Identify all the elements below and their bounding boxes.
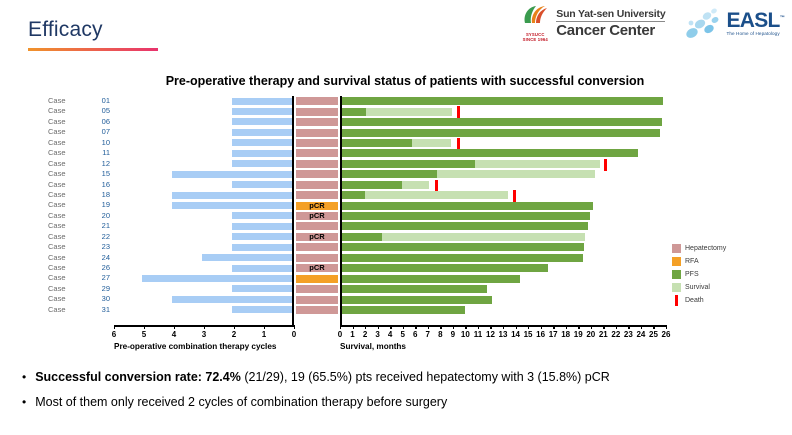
pfs-bar — [342, 264, 548, 272]
easl-trademark: ™ — [780, 15, 784, 21]
legend-label: PFS — [685, 271, 699, 278]
case-word: Case — [48, 127, 66, 137]
case-word: Case — [48, 200, 66, 210]
right-axis-tick-label: 9 — [451, 330, 455, 339]
sysucc-line2: Cancer Center — [556, 23, 665, 38]
cycles-row — [114, 200, 292, 210]
left-axis-tick-label: 6 — [112, 330, 116, 339]
cycles-row — [114, 242, 292, 252]
logo-group: SYSUCC SINCE 1964 Sun Yat-sen University… — [520, 5, 784, 43]
right-axis-tick — [415, 325, 416, 329]
bullet-emphasis: Successful conversion rate: 72.4% — [35, 370, 241, 384]
right-axis-tick — [390, 325, 391, 329]
legend-item: Survival — [672, 281, 726, 294]
hepatectomy-bar — [296, 160, 338, 168]
right-axis-tick-label: 17 — [549, 330, 558, 339]
survival-row — [342, 200, 666, 210]
left-axis-tick-label: 1 — [262, 330, 266, 339]
survival-row — [342, 180, 666, 190]
pfs-bar — [342, 306, 465, 314]
surgery-row — [296, 169, 338, 179]
therapy-cycles-bar — [232, 129, 292, 136]
hepatectomy-bar — [296, 191, 338, 199]
right-axis-tick-label: 16 — [536, 330, 545, 339]
case-number: 06 — [102, 117, 110, 127]
case-label-row: Case30 — [48, 294, 110, 304]
hepatectomy-bar — [296, 97, 338, 105]
pcr-badge: pCR — [296, 233, 338, 241]
therapy-cycles-bar — [232, 118, 292, 125]
right-axis-tick — [378, 325, 379, 329]
right-axis-tick-label: 6 — [413, 330, 417, 339]
therapy-cycles-bar — [232, 306, 292, 313]
left-axis-tick-label: 4 — [172, 330, 176, 339]
pfs-bar — [342, 275, 520, 283]
hepatectomy-bar — [296, 118, 338, 126]
surgery-row — [296, 138, 338, 148]
left-axis: Pre-operative combination therapy cycles… — [114, 325, 294, 359]
case-word: Case — [48, 253, 66, 263]
survival-row — [342, 211, 666, 221]
pfs-bar — [342, 191, 365, 199]
case-number: 07 — [102, 127, 110, 137]
case-word: Case — [48, 284, 66, 294]
sysucc-since: SINCE 1964 — [520, 37, 550, 42]
left-axis-tick-label: 3 — [202, 330, 206, 339]
cycles-row — [114, 96, 292, 106]
cycles-row — [114, 232, 292, 242]
surgery-row — [296, 273, 338, 283]
cycles-row — [114, 221, 292, 231]
case-word: Case — [48, 159, 66, 169]
right-axis-tick — [428, 325, 429, 329]
case-word: Case — [48, 96, 66, 106]
survival-row — [342, 242, 666, 252]
case-number: 01 — [102, 96, 110, 106]
case-label-column: Case01Case05Case06Case07Case10Case11Case… — [48, 96, 110, 315]
therapy-cycles-bar — [232, 285, 292, 292]
case-word: Case — [48, 221, 66, 231]
right-axis-tick-label: 7 — [426, 330, 430, 339]
case-label-row: Case20 — [48, 211, 110, 221]
pfs-bar — [342, 108, 366, 116]
case-word: Case — [48, 273, 66, 283]
cycles-row — [114, 294, 292, 304]
legend-swatch — [672, 244, 681, 253]
case-word: Case — [48, 232, 66, 242]
therapy-cycles-bar — [202, 254, 292, 261]
survival-bar — [475, 160, 600, 168]
right-axis-tick — [578, 325, 579, 329]
right-axis-tick — [516, 325, 517, 329]
right-axis-tick — [666, 325, 667, 329]
right-axis-tick-label: 1 — [350, 330, 354, 339]
right-axis-tick — [365, 325, 366, 329]
therapy-cycles-bar — [172, 192, 292, 199]
bullet-text: Most of them only received 2 cycles of c… — [35, 395, 447, 409]
cycles-row — [114, 253, 292, 263]
cycles-row — [114, 190, 292, 200]
left-axis-tick-label: 2 — [232, 330, 236, 339]
right-axis-tick — [528, 325, 529, 329]
right-axis-tick — [453, 325, 454, 329]
cycles-row — [114, 169, 292, 179]
therapy-cycles-bar — [232, 233, 292, 240]
case-number: 27 — [102, 273, 110, 283]
pfs-bar — [342, 233, 382, 241]
right-axis-tick-label: 11 — [474, 330, 482, 339]
pcr-badge: pCR — [296, 264, 338, 272]
right-axis: Survival, months 01234567891011121314151… — [340, 325, 666, 359]
chart-title-text: Pre-operative therapy and survival statu… — [148, 74, 645, 88]
legend-label: Survival — [685, 284, 710, 291]
chart-legend: HepatectomyRFAPFSSurvivalDeath — [672, 242, 726, 307]
case-number: 23 — [102, 242, 110, 252]
page-title: Efficacy — [28, 18, 103, 42]
cycles-row — [114, 127, 292, 137]
case-label-row: Case24 — [48, 253, 110, 263]
case-label-row: Case29 — [48, 284, 110, 294]
survival-row — [342, 221, 666, 231]
therapy-cycles-bar — [232, 265, 292, 272]
case-word: Case — [48, 106, 66, 116]
survival-row — [342, 263, 666, 273]
left-axis-tick-label: 5 — [142, 330, 146, 339]
survival-row — [342, 159, 666, 169]
right-axis-tick — [403, 325, 404, 329]
case-label-row: Case12 — [48, 159, 110, 169]
case-label-row: Case18 — [48, 190, 110, 200]
case-number: 10 — [102, 138, 110, 148]
therapy-cycles-bar — [232, 150, 292, 157]
therapy-cycles-panel — [114, 96, 294, 325]
right-axis-tick — [566, 325, 567, 329]
summary-bullets: •Successful conversion rate: 72.4% (21/2… — [22, 370, 782, 421]
case-label-row: Case11 — [48, 148, 110, 158]
cycles-row — [114, 273, 292, 283]
survival-row — [342, 253, 666, 263]
right-axis-tick — [490, 325, 491, 329]
case-label-row: Case27 — [48, 273, 110, 283]
survival-row — [342, 284, 666, 294]
therapy-cycles-bar — [142, 275, 292, 282]
case-word: Case — [48, 117, 66, 127]
right-axis-tick-label: 10 — [461, 330, 470, 339]
case-word: Case — [48, 211, 66, 221]
legend-item: PFS — [672, 268, 726, 281]
left-axis-tick-label: 0 — [292, 330, 296, 339]
case-word: Case — [48, 138, 66, 148]
surgery-row: pCR — [296, 200, 338, 210]
pfs-bar — [342, 160, 475, 168]
case-word: Case — [48, 190, 66, 200]
pfs-bar — [342, 118, 662, 126]
legend-item: RFA — [672, 255, 726, 268]
case-word: Case — [48, 242, 66, 252]
surgery-type-panel: pCRpCRpCRpCR — [296, 96, 338, 325]
right-axis-tick — [591, 325, 592, 329]
surgery-row — [296, 190, 338, 200]
surgery-row — [296, 242, 338, 252]
hepatectomy-bar — [296, 285, 338, 293]
survival-row — [342, 273, 666, 283]
legend-item: Death — [672, 294, 726, 307]
right-axis-tick-label: 4 — [388, 330, 392, 339]
right-axis-tick-label: 0 — [338, 330, 342, 339]
surgery-row — [296, 284, 338, 294]
legend-label: Death — [685, 297, 704, 304]
survival-bar — [365, 191, 508, 199]
case-number: 29 — [102, 284, 110, 294]
survival-row — [342, 190, 666, 200]
hepatectomy-bar — [296, 296, 338, 304]
left-axis-tick — [264, 325, 265, 329]
case-word: Case — [48, 263, 66, 273]
chart-title: Pre-operative therapy and survival statu… — [0, 74, 792, 88]
surgery-row — [296, 305, 338, 315]
therapy-cycles-bar — [232, 139, 292, 146]
pfs-bar — [342, 243, 584, 251]
legend-label: RFA — [685, 258, 699, 265]
case-label-row: Case06 — [48, 117, 110, 127]
right-axis-tick-label: 23 — [624, 330, 633, 339]
survival-bar — [412, 139, 451, 147]
easl-cells-icon — [683, 7, 723, 41]
easl-tagline: The Home of Hepatology — [726, 32, 784, 37]
hepatectomy-bar — [296, 149, 338, 157]
pfs-bar — [342, 97, 663, 105]
title-underline — [28, 48, 158, 51]
pcr-badge: pCR — [296, 212, 338, 220]
cycles-row — [114, 138, 292, 148]
therapy-cycles-bar — [232, 212, 292, 219]
survival-row — [342, 117, 666, 127]
cycles-row — [114, 263, 292, 273]
survival-row — [342, 127, 666, 137]
case-word: Case — [48, 305, 66, 315]
surgery-row: pCR — [296, 263, 338, 273]
bullet-marker: • — [22, 370, 26, 384]
surgery-row — [296, 159, 338, 169]
survival-swimmer-chart: Case01Case05Case06Case07Case10Case11Case… — [0, 96, 792, 364]
survival-row — [342, 148, 666, 158]
therapy-cycles-bar — [232, 108, 292, 115]
case-number: 12 — [102, 159, 110, 169]
right-axis-tick — [603, 325, 604, 329]
right-axis-tick-label: 12 — [486, 330, 495, 339]
right-axis-tick — [340, 325, 341, 329]
case-word: Case — [48, 180, 66, 190]
therapy-cycles-bar — [232, 98, 292, 105]
hepatectomy-bar — [296, 306, 338, 314]
legend-swatch — [672, 283, 681, 292]
therapy-cycles-bar — [232, 223, 292, 230]
case-label-row: Case05 — [48, 106, 110, 116]
case-number: 05 — [102, 106, 110, 116]
case-word: Case — [48, 294, 66, 304]
hepatectomy-bar — [296, 243, 338, 251]
case-label-row: Case16 — [48, 180, 110, 190]
pfs-bar — [342, 222, 588, 230]
cycles-row — [114, 148, 292, 158]
survival-row — [342, 96, 666, 106]
survival-bar — [402, 181, 428, 189]
pfs-bar — [342, 202, 593, 210]
right-axis-tick — [628, 325, 629, 329]
left-axis-tick — [234, 325, 235, 329]
case-label-row: Case22 — [48, 232, 110, 242]
surgery-row — [296, 221, 338, 231]
survival-row — [342, 138, 666, 148]
surgery-row — [296, 148, 338, 158]
right-axis-tick-label: 24 — [636, 330, 645, 339]
case-number: 20 — [102, 211, 110, 221]
case-number: 19 — [102, 200, 110, 210]
surgery-row — [296, 127, 338, 137]
surgery-row — [296, 253, 338, 263]
sysucc-line1: Sun Yat-sen University — [556, 9, 665, 20]
pfs-bar — [342, 285, 487, 293]
bullet-text: Successful conversion rate: 72.4% (21/29… — [35, 370, 610, 384]
bullet-item: •Most of them only received 2 cycles of … — [22, 395, 782, 409]
right-axis-tick-label: 26 — [662, 330, 671, 339]
case-number: 30 — [102, 294, 110, 304]
right-axis-label: Survival, months — [340, 342, 406, 351]
right-axis-tick-label: 25 — [649, 330, 658, 339]
right-axis-tick-label: 20 — [586, 330, 595, 339]
pfs-bar — [342, 139, 412, 147]
bullet-item: •Successful conversion rate: 72.4% (21/2… — [22, 370, 782, 384]
survival-bar — [382, 233, 585, 241]
hepatectomy-bar — [296, 254, 338, 262]
right-axis-tick — [616, 325, 617, 329]
survival-row — [342, 232, 666, 242]
cycles-row — [114, 211, 292, 221]
case-label-row: Case26 — [48, 263, 110, 273]
case-label-row: Case10 — [48, 138, 110, 148]
pfs-bar — [342, 170, 437, 178]
cycles-row — [114, 284, 292, 294]
pfs-bar — [342, 212, 590, 220]
right-axis-tick-label: 5 — [400, 330, 404, 339]
case-label-row: Case19 — [48, 200, 110, 210]
cycles-row — [114, 305, 292, 315]
hepatectomy-bar — [296, 181, 338, 189]
sysucc-wordmark: Sun Yat-sen University Cancer Center — [556, 9, 665, 38]
case-number: 26 — [102, 263, 110, 273]
surgery-row — [296, 96, 338, 106]
hepatectomy-bar — [296, 139, 338, 147]
surgery-row: pCR — [296, 232, 338, 242]
case-number: 18 — [102, 190, 110, 200]
sysucc-leaf-icon — [522, 5, 548, 27]
right-axis-tick-label: 13 — [499, 330, 508, 339]
survival-row — [342, 305, 666, 315]
right-axis-tick — [541, 325, 542, 329]
pcr-badge: pCR — [296, 202, 338, 210]
right-axis-tick-label: 19 — [574, 330, 583, 339]
case-number: 24 — [102, 253, 110, 263]
right-axis-tick — [653, 325, 654, 329]
legend-swatch — [672, 257, 681, 266]
case-label-row: Case15 — [48, 169, 110, 179]
therapy-cycles-bar — [232, 160, 292, 167]
left-axis-tick — [204, 325, 205, 329]
hepatectomy-bar — [296, 108, 338, 116]
case-label-row: Case01 — [48, 96, 110, 106]
right-axis-tick — [503, 325, 504, 329]
case-number: 31 — [102, 305, 110, 315]
left-axis-tick — [114, 325, 115, 329]
survival-row — [342, 106, 666, 116]
hepatectomy-bar — [296, 222, 338, 230]
right-axis-tick — [353, 325, 354, 329]
survival-bar — [366, 108, 453, 116]
easl-logo: EASL™ The Home of Hepatology — [683, 7, 784, 41]
right-axis-tick-label: 18 — [561, 330, 570, 339]
surgery-row — [296, 117, 338, 127]
case-label-row: Case21 — [48, 221, 110, 231]
legend-swatch — [675, 295, 679, 306]
bullet-marker: • — [22, 395, 26, 409]
case-label-row: Case31 — [48, 305, 110, 315]
right-axis-tick — [641, 325, 642, 329]
rfa-bar — [296, 275, 338, 283]
surgery-row — [296, 180, 338, 190]
right-axis-tick-label: 22 — [611, 330, 620, 339]
hepatectomy-bar — [296, 129, 338, 137]
pfs-bar — [342, 129, 660, 137]
right-axis-tick-label: 14 — [511, 330, 520, 339]
pfs-bar — [342, 149, 638, 157]
left-axis-tick — [174, 325, 175, 329]
easl-name-text: EASL — [726, 9, 779, 32]
therapy-cycles-bar — [172, 296, 292, 303]
sysucc-logo: SYSUCC SINCE 1964 Sun Yat-sen University… — [520, 5, 665, 43]
survival-row — [342, 294, 666, 304]
right-axis-tick-label: 8 — [438, 330, 442, 339]
case-label-row: Case23 — [48, 242, 110, 252]
cycles-row — [114, 159, 292, 169]
cycles-row — [114, 106, 292, 116]
right-axis-tick — [440, 325, 441, 329]
right-axis-tick — [478, 325, 479, 329]
survival-row — [342, 169, 666, 179]
legend-item: Hepatectomy — [672, 242, 726, 255]
survival-bar — [437, 170, 595, 178]
pfs-bar — [342, 254, 583, 262]
case-word: Case — [48, 148, 66, 158]
surgery-row — [296, 106, 338, 116]
case-word: Case — [48, 169, 66, 179]
pfs-bar — [342, 181, 402, 189]
therapy-cycles-bar — [172, 202, 292, 209]
therapy-cycles-bar — [172, 171, 292, 178]
legend-label: Hepatectomy — [685, 245, 726, 252]
pfs-bar — [342, 296, 492, 304]
case-label-row: Case07 — [48, 127, 110, 137]
left-axis-label: Pre-operative combination therapy cycles — [114, 342, 276, 351]
case-number: 22 — [102, 232, 110, 242]
left-axis-tick — [144, 325, 145, 329]
case-number: 21 — [102, 221, 110, 231]
legend-swatch — [672, 270, 681, 279]
easl-wordmark: EASL™ The Home of Hepatology — [726, 10, 784, 37]
left-axis-tick — [294, 325, 295, 329]
right-axis-tick-label: 3 — [375, 330, 379, 339]
cycles-row — [114, 180, 292, 190]
right-axis-tick-label: 2 — [363, 330, 367, 339]
